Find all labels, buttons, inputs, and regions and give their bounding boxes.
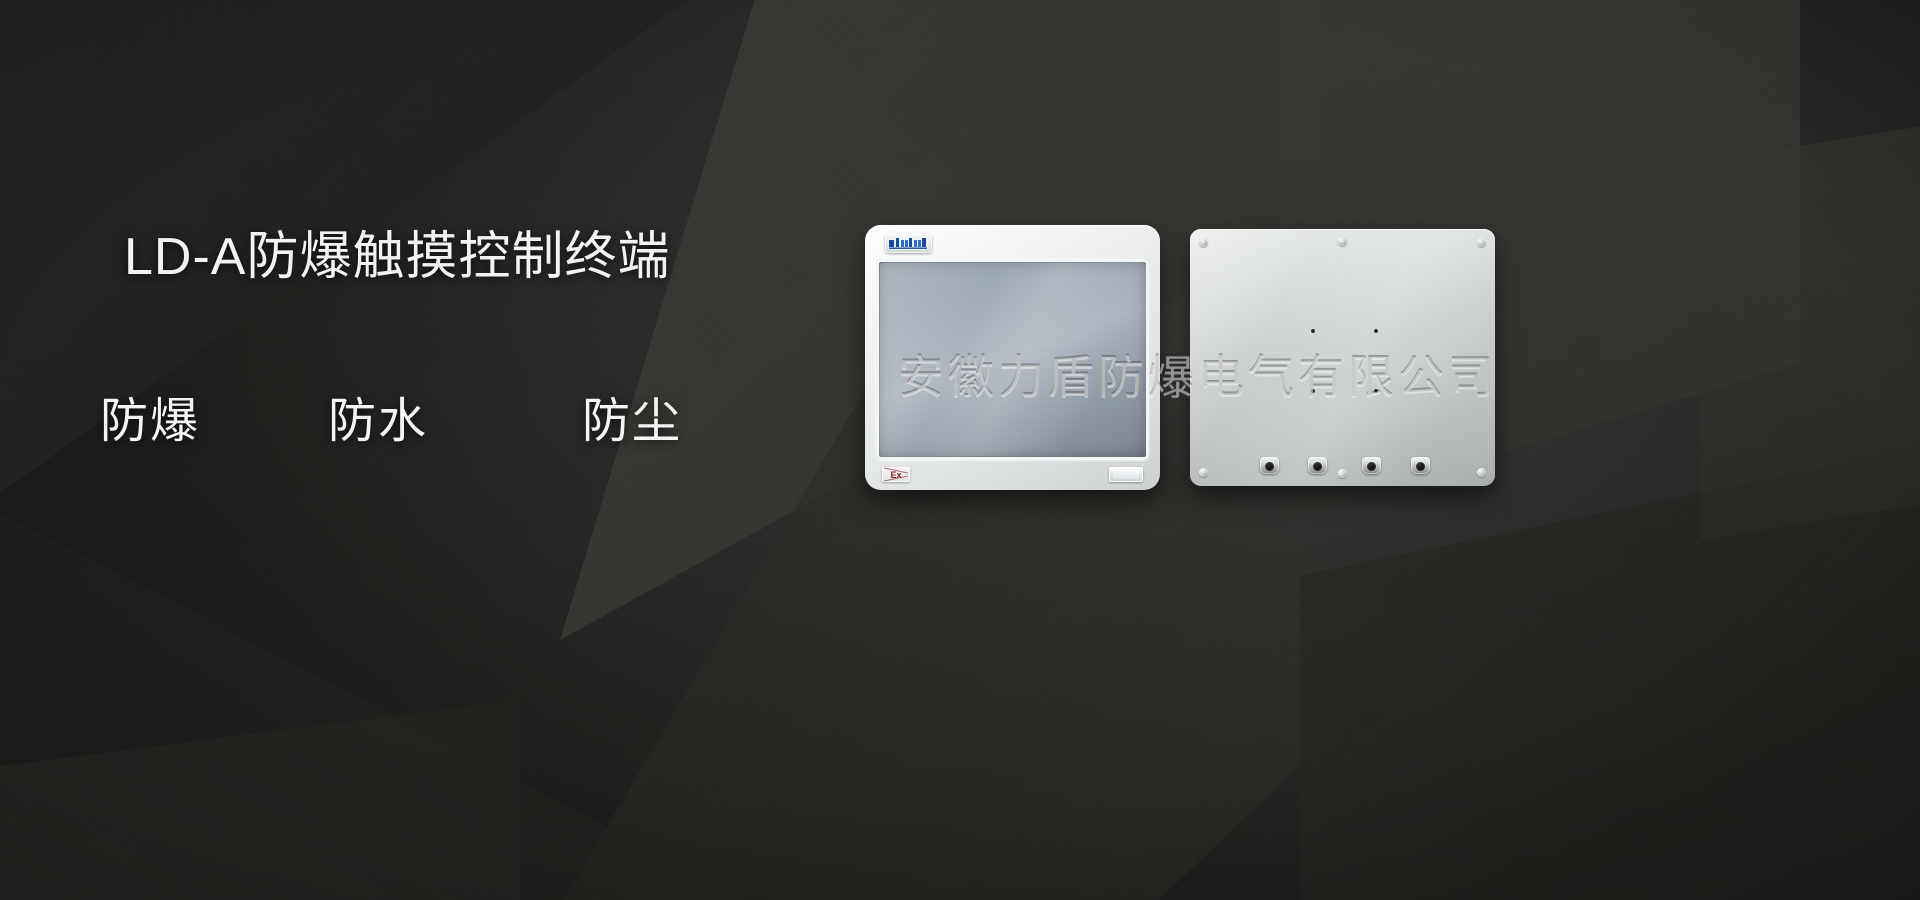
mount-hole-1 [1311,329,1315,333]
product-banner: LD-A防爆触摸控制终端 防爆 防水 防尘 [0,0,1920,900]
screw-bottom-center [1338,469,1347,478]
rear-panel-unit [1190,229,1495,486]
rear-panel-sheen [1190,229,1495,486]
cable-gland-4 [1411,455,1430,475]
feature-item-explosion-proof: 防爆 [100,398,308,446]
screw-bottom-left [1199,468,1208,477]
mount-hole-4 [1374,389,1378,393]
cable-gland-3 [1362,455,1381,475]
product-photo-group: Ex [855,215,1865,515]
feature-item-waterproof: 防水 [308,398,536,446]
brand-logo-icon [888,237,929,250]
brand-logo-badge [885,234,932,253]
ex-badge-label: Ex [890,470,901,480]
front-panel-unit: Ex [865,225,1160,490]
banner-headline: LD-A防爆触摸控制终端 [124,231,670,283]
feature-label: 防尘 [582,395,682,448]
touch-screen-display [876,259,1149,460]
screw-top-left [1199,238,1208,247]
screen-glare [880,263,1145,456]
mount-hole-3 [1311,389,1315,393]
feature-label: 防水 [328,395,428,448]
cable-gland-2 [1308,455,1327,475]
cable-gland-1 [1260,455,1279,475]
feature-list: 防爆 防水 防尘 [100,398,790,446]
product-nameplate [1109,467,1143,482]
screw-bottom-right [1477,468,1486,477]
screw-top-right [1477,238,1486,247]
ex-certification-badge: Ex [882,467,910,482]
screw-top-center [1338,237,1347,246]
mount-hole-2 [1374,329,1378,333]
feature-item-dustproof: 防尘 [536,398,790,446]
feature-label: 防爆 [100,395,200,448]
